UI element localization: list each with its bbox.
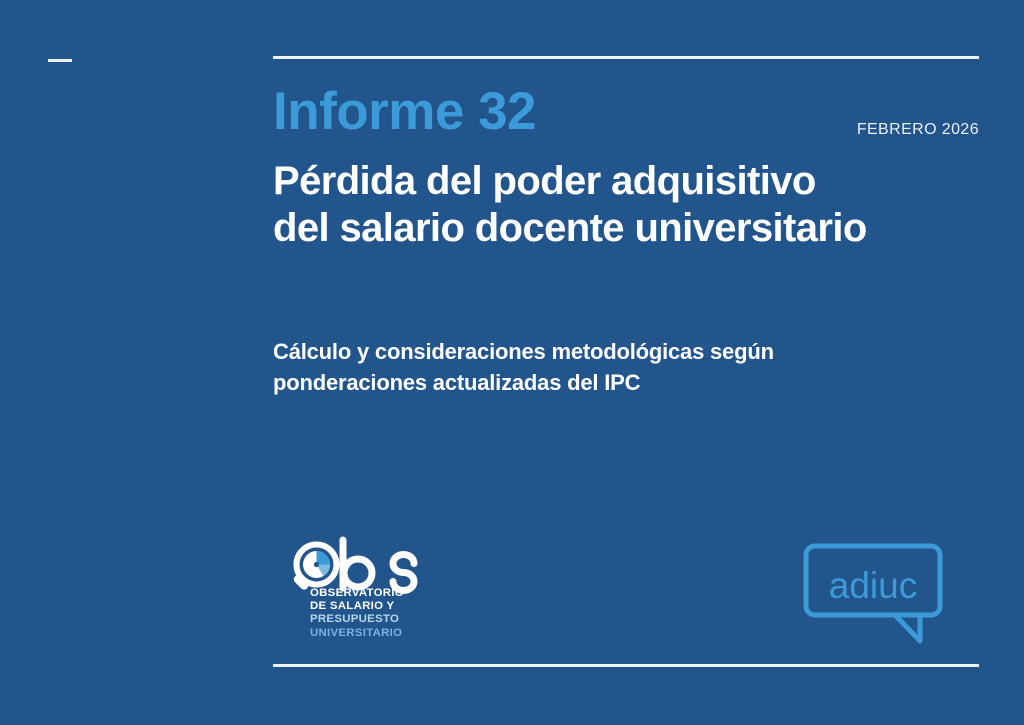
obs-wordmark-text: OBSERVATORIO DE SALARIO Y PRESUPUESTO UN… — [310, 587, 404, 640]
title-block: Informe 32 FEBRERO 2026 Pérdida del pode… — [273, 88, 979, 279]
page-title-line-1: Pérdida del poder adquisitivo — [273, 158, 979, 205]
adiuc-wordmark-text: adiuc — [803, 567, 943, 604]
adiuc-logo: adiuc — [803, 543, 943, 645]
obs-name-line-4: UNIVERSITARIO — [310, 627, 404, 640]
kicker-row: Informe 32 FEBRERO 2026 — [273, 88, 979, 150]
page-subtitle-line-2: ponderaciones actualizadas del IPC — [273, 367, 973, 398]
bottom-divider-rule — [273, 664, 979, 667]
report-cover: Informe 32 FEBRERO 2026 Pérdida del pode… — [0, 0, 1024, 725]
page-subtitle-line-1: Cálculo y consideraciones metodológicas … — [273, 336, 973, 367]
report-number-label: Informe 32 — [273, 84, 536, 140]
page-title: Pérdida del poder adquisitivo del salari… — [273, 158, 979, 252]
page-subtitle: Cálculo y consideraciones metodológicas … — [273, 336, 973, 398]
top-divider-rule — [273, 56, 979, 59]
obs-name-line-2: DE SALARIO Y — [310, 600, 404, 613]
corner-dash-mark — [48, 59, 72, 62]
publication-date: FEBRERO 2026 — [857, 121, 979, 139]
obs-name-line-1: OBSERVATORIO — [310, 587, 404, 600]
page-title-line-2: del salario docente universitario — [273, 205, 979, 252]
obs-name-line-3: PRESUPUESTO — [310, 613, 404, 626]
obs-logo: OBSERVATORIO DE SALARIO Y PRESUPUESTO UN… — [288, 536, 428, 642]
